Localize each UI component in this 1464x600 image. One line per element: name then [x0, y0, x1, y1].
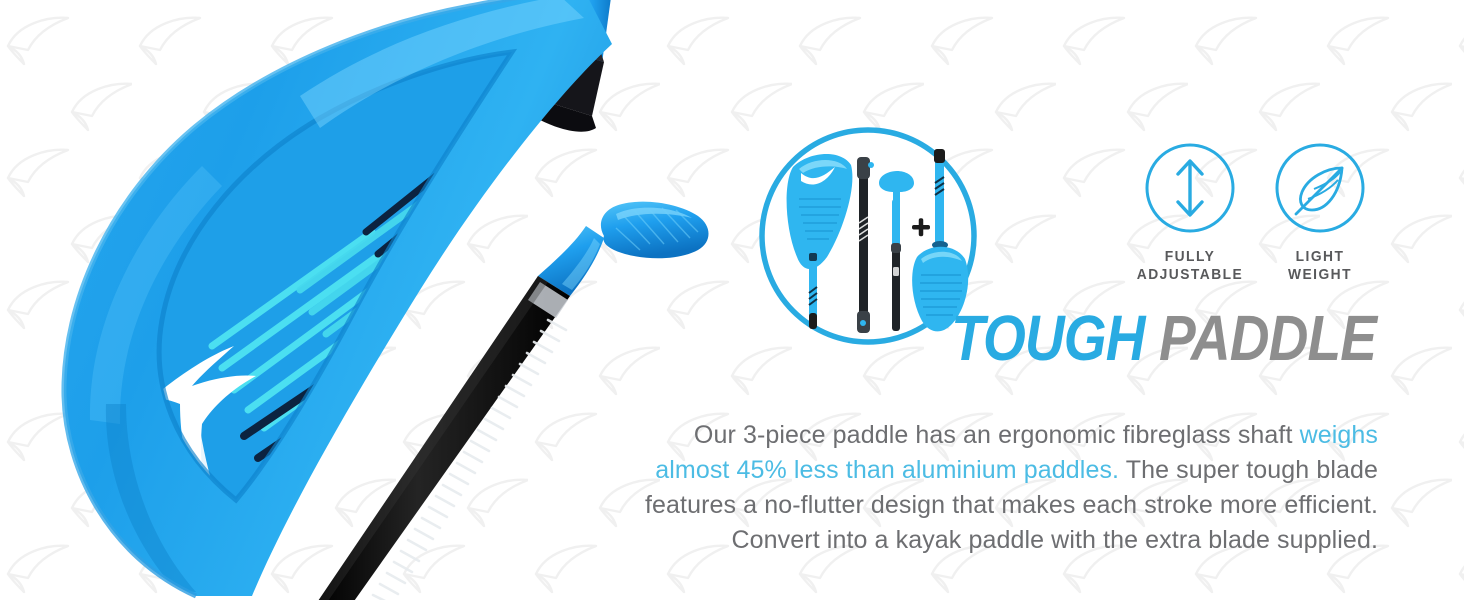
feature-label-line2: WEIGHT	[1261, 266, 1379, 284]
body-text-part1: Our 3-piece paddle has an ergonomic fibr…	[694, 421, 1300, 449]
headline-word-soft: PADDLE	[1145, 302, 1376, 374]
feature-label: FULLY ADJUSTABLE	[1131, 248, 1249, 284]
feature-label: LIGHT WEIGHT	[1261, 248, 1379, 284]
vertical-double-arrow-icon	[1144, 142, 1236, 234]
feature-label-line1: FULLY	[1131, 248, 1249, 266]
product-banner: FULLY ADJUSTABLE LIGHT WEIGHT TOUGH PADD…	[0, 0, 1464, 600]
feature-label-line1: LIGHT	[1261, 248, 1379, 266]
three-piece-plus-blade-badge	[757, 125, 979, 347]
t-grip-handle	[538, 202, 709, 296]
page-title: TOUGH PADDLE	[951, 306, 1376, 370]
headline-word-strong: TOUGH	[951, 302, 1144, 374]
body-paragraph: Our 3-piece paddle has an ergonomic fibr…	[618, 418, 1378, 558]
feather-icon	[1274, 142, 1366, 234]
feature-light-weight: LIGHT WEIGHT	[1256, 142, 1384, 284]
feature-label-line2: ADJUSTABLE	[1131, 266, 1249, 284]
feature-fully-adjustable: FULLY ADJUSTABLE	[1126, 142, 1254, 284]
